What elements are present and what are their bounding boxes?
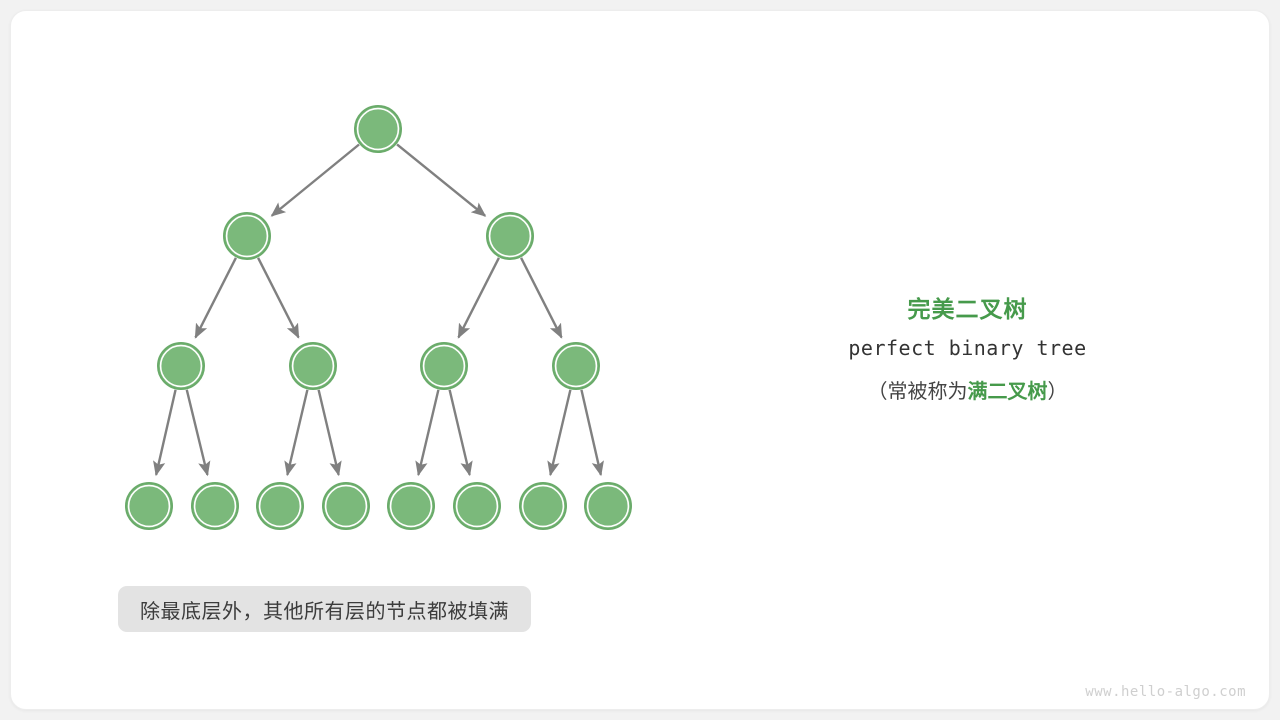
tree-edge: [187, 390, 208, 475]
tree-edge: [550, 390, 570, 475]
tree-edge: [397, 144, 485, 215]
node-layer: [126, 106, 631, 529]
tree-node-fill: [425, 347, 463, 385]
legend-note-suffix: ）: [1048, 381, 1068, 403]
tree-node-fill: [327, 487, 365, 525]
tree-node: [487, 213, 533, 259]
tree-node: [126, 483, 172, 529]
watermark: www.hello-algo.com: [1085, 684, 1246, 700]
tree-node-fill: [589, 487, 627, 525]
tree-edge: [418, 390, 438, 475]
tree-node-fill: [359, 110, 397, 148]
legend-title-en: perfect binary tree: [790, 326, 1145, 370]
tree-node: [257, 483, 303, 529]
legend-note-prefix: （常被称为: [868, 381, 968, 403]
tree-node-fill: [392, 487, 430, 525]
tree-node: [224, 213, 270, 259]
tree-node: [355, 106, 401, 152]
tree-edge: [272, 144, 359, 215]
tree-node-fill: [228, 217, 266, 255]
tree-edge: [450, 390, 470, 475]
tree-node: [388, 483, 434, 529]
tree-node-fill: [196, 487, 234, 525]
tree-caption-text: 除最底层外，其他所有层的节点都被填满: [140, 595, 509, 624]
tree-node: [585, 483, 631, 529]
legend-note-highlight: 满二叉树: [968, 381, 1048, 403]
tree-node-fill: [491, 217, 529, 255]
tree-edge: [458, 258, 498, 338]
tree-edge: [581, 390, 600, 475]
binary-tree-graphic: [0, 0, 760, 580]
tree-node: [192, 483, 238, 529]
tree-edge: [156, 390, 175, 475]
tree-edge: [319, 390, 339, 475]
legend-block: 完美二叉树 perfect binary tree （常被称为满二叉树）: [790, 292, 1145, 414]
tree-node: [454, 483, 500, 529]
tree-node-fill: [524, 487, 562, 525]
tree-edge: [287, 390, 307, 475]
tree-caption-badge: 除最底层外，其他所有层的节点都被填满: [118, 586, 531, 632]
tree-node: [553, 343, 599, 389]
diagram-stage: 除最底层外，其他所有层的节点都被填满 完美二叉树 perfect binary …: [0, 0, 1280, 720]
tree-node-fill: [261, 487, 299, 525]
tree-node: [323, 483, 369, 529]
tree-node-fill: [162, 347, 200, 385]
tree-node: [520, 483, 566, 529]
tree-node: [290, 343, 336, 389]
tree-node-fill: [294, 347, 332, 385]
legend-note: （常被称为满二叉树）: [790, 370, 1145, 414]
tree-edge: [521, 258, 561, 338]
tree-node-fill: [458, 487, 496, 525]
edge-layer: [156, 144, 601, 474]
tree-edge: [258, 258, 298, 338]
tree-node-fill: [130, 487, 168, 525]
tree-edge: [195, 258, 235, 338]
tree-node-fill: [557, 347, 595, 385]
tree-node: [421, 343, 467, 389]
legend-title-zh: 完美二叉树: [790, 292, 1145, 326]
tree-node: [158, 343, 204, 389]
